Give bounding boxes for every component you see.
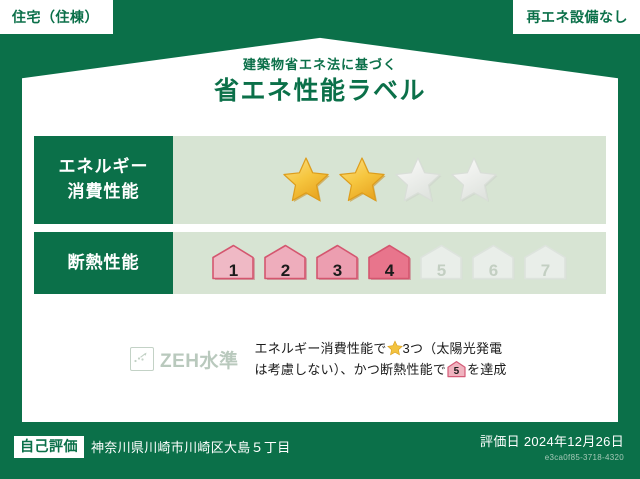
insulation-step-empty: 5 [417, 242, 466, 284]
insulation-step-filled: 3 [313, 242, 362, 284]
footer-right-group: 評価日 2024年12月26日 e3ca0f85-3718-4320 [480, 431, 624, 462]
inline-star-icon [387, 340, 403, 356]
zeh-desc-part4: を達成 [467, 362, 507, 377]
building-type-badge-label: 住宅（住棟） [12, 7, 99, 27]
zeh-chart-icon [130, 347, 154, 371]
zeh-mark-label: ZEH水準 [160, 346, 239, 373]
insulation-step-number: 6 [489, 262, 498, 284]
evaluation-date: 評価日 2024年12月26日 [480, 431, 624, 450]
star-empty [448, 155, 500, 205]
star-filled [280, 155, 332, 205]
star-empty [392, 155, 444, 205]
insulation-step-number: 5 [437, 262, 446, 284]
insulation-step-number: 7 [541, 262, 550, 284]
insulation-step-empty: 6 [469, 242, 518, 284]
self-evaluation-badge: 自己評価 [14, 436, 84, 458]
insulation-step-filled: 2 [261, 242, 310, 284]
insulation-step-number: 3 [333, 262, 342, 284]
renewable-equipment-badge: 再エネ設備なし [513, 0, 640, 34]
rating-rows: エネルギー 消費性能 断熱性能 1234567 [34, 136, 606, 302]
property-address: 神奈川県川崎市川崎区大島５丁目 [91, 437, 291, 456]
insulation-step-number: 2 [281, 262, 290, 284]
insulation-step-filled: 4 [365, 242, 414, 284]
building-type-badge: 住宅（住棟） [0, 0, 113, 34]
zeh-desc-part1: エネルギー消費性能で [255, 341, 387, 356]
insulation-step-number: 4 [385, 262, 394, 284]
zeh-standard-note: ZEH水準 エネルギー消費性能で3つ（太陽光発電は考慮しない）、かつ断熱性能で5… [130, 338, 610, 381]
energy-performance-row: エネルギー 消費性能 [34, 136, 606, 224]
energy-label-line1: エネルギー [59, 157, 149, 176]
label-footer: 自己評価 神奈川県川崎市川崎区大島５丁目 評価日 2024年12月26日 e3c… [0, 422, 640, 479]
insulation-step-number: 1 [229, 262, 238, 284]
insulation-performance-row: 断熱性能 1234567 [34, 232, 606, 294]
inline-insulation-badge-number: 5 [446, 367, 467, 377]
footer-left-group: 自己評価 神奈川県川崎市川崎区大島５丁目 [14, 436, 291, 458]
energy-performance-label: エネルギー 消費性能 [34, 136, 173, 224]
energy-star-rating [173, 136, 606, 224]
insulation-step-scale: 1234567 [173, 232, 606, 294]
renewable-equipment-badge-label: 再エネ設備なし [527, 7, 629, 27]
insulation-step-empty: 7 [521, 242, 570, 284]
evaluation-id: e3ca0f85-3718-4320 [480, 453, 624, 462]
insulation-performance-label: 断熱性能 [34, 232, 173, 294]
star-filled [336, 155, 388, 205]
energy-label-line2: 消費性能 [68, 182, 140, 201]
energy-label-card: 住宅（住棟） 再エネ設備なし 建築物省エネ法に基づく 省エネ性能ラベル エネルギ… [0, 0, 640, 479]
inline-insulation-badge: 5 [446, 360, 467, 378]
zeh-mark: ZEH水準 [130, 346, 239, 373]
zeh-desc-part2: 3つ（太陽光発電 [403, 341, 503, 356]
zeh-desc-part3: は考慮しない）、かつ断熱性能で [255, 362, 447, 377]
insulation-step-filled: 1 [209, 242, 258, 284]
insulation-label-text: 断熱性能 [68, 251, 140, 276]
zeh-description: エネルギー消費性能で3つ（太陽光発電は考慮しない）、かつ断熱性能で5を達成 [255, 338, 507, 381]
